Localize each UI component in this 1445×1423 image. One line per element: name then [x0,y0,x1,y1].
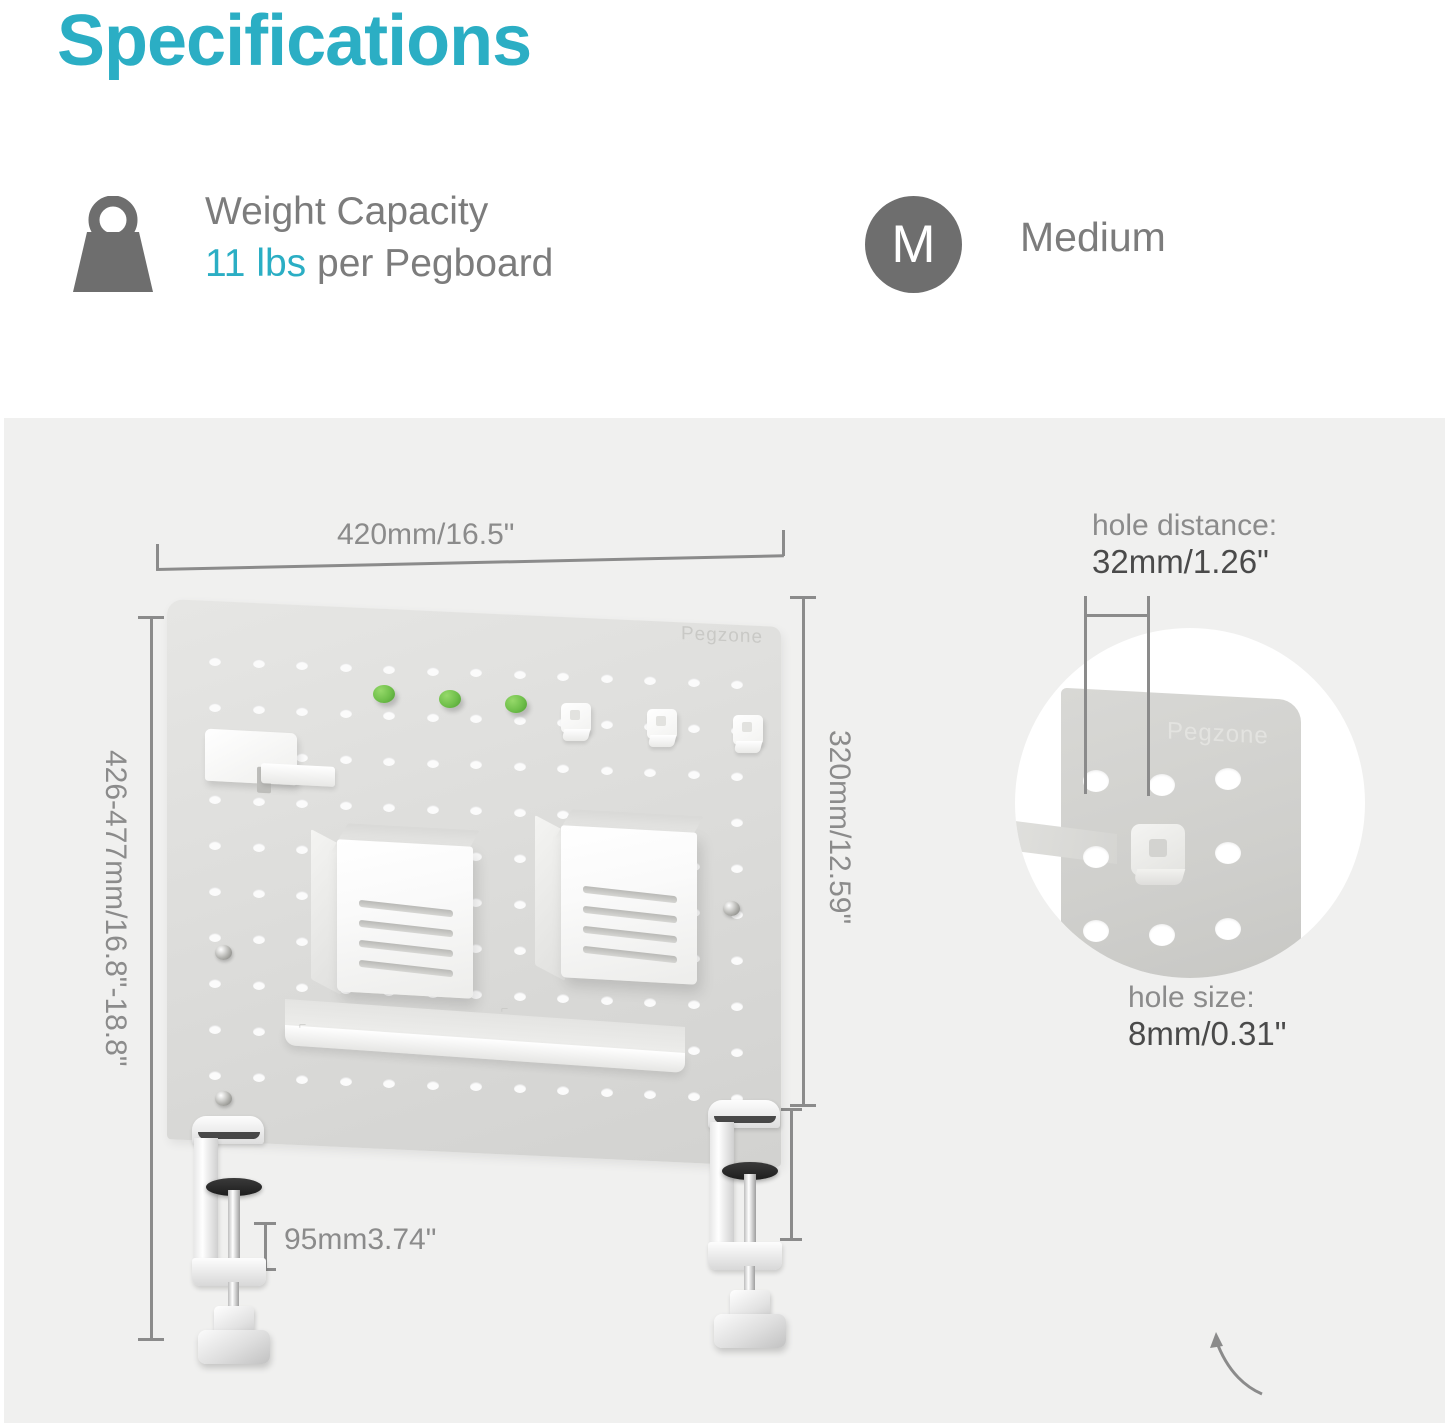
pegboard-hole [644,1090,656,1099]
phone-holder-accessory [205,731,333,803]
size-badge-label: Medium [1020,214,1166,261]
width-dim-cap-right [782,530,785,556]
magnified-hole [1149,924,1175,946]
pegboard-hole [296,845,308,854]
product-image-panel: 420mm/16.5" 426-477mm/16.8"-18.8" 320mm/… [4,418,1445,1423]
pegboard-hole [296,1075,308,1084]
pegboard-hole [731,1048,743,1057]
width-dim-line [156,554,784,571]
board-height-dim-label: 320mm/12.59" [822,730,856,924]
hole-size-callout: hole size: 8mm/0.31" [1128,980,1286,1054]
pegboard-hole [209,1071,221,1080]
pegboard-hole [209,703,221,712]
pegboard-hole [340,801,352,810]
pegboard-hole [644,768,656,777]
clamp-spine [710,1122,734,1254]
magnified-hole [1083,920,1109,942]
clamp-depth-dim-label: 95mm3.74" [284,1223,436,1257]
hole-distance-leader-left [1084,596,1087,794]
magnified-hole [1215,918,1241,940]
total-height-dim-line [150,616,153,1340]
basket-slot [583,946,677,964]
pegboard-hole [688,1046,700,1055]
pegboard-hole [601,1088,613,1097]
pegboard-hole [514,808,526,817]
pegboard-hole [253,1027,265,1036]
pegboard-hook [733,715,763,745]
pegboard-hole [514,670,526,679]
pegboard-hole [731,772,743,781]
pegboard-hole [427,667,439,676]
pegboard-hook [561,703,591,733]
pegboard-hole [296,661,308,670]
pegboard-hole [253,1073,265,1082]
pegboard-hole [383,665,395,674]
pegboard-hole [340,709,352,718]
magnified-brand-logo: Pegzone [1167,717,1269,750]
basket-slot [583,886,677,904]
width-dim-label: 420mm/16.5" [337,518,514,552]
pegboard-hole [340,755,352,764]
pegboard-hole [383,757,395,766]
hole-distance-callout: hole distance: 32mm/1.26" [1092,508,1277,582]
pegboard-hole [296,707,308,716]
pegboard-hole [253,935,265,944]
desk-clamp-left [180,1116,276,1366]
pegboard-hole [601,766,613,775]
pegboard-hole [427,805,439,814]
pegboard-hole [253,705,265,714]
weight-capacity-block: Weight Capacity 11 lbs per Pegboard [57,186,757,316]
pegboard-hole [644,998,656,1007]
magnified-detail-circle: Pegzone [1015,628,1365,978]
weight-capacity-value: 11 lbs per Pegboard [205,238,553,290]
pegboard-hole [253,889,265,898]
basket-slot [359,940,453,958]
hole-distance-value: 32mm/1.26" [1092,543,1277,582]
pegboard-hole [296,891,308,900]
total-height-dim-label: 426-477mm/16.8"-18.8" [98,750,132,1066]
pegboard-hole [340,1077,352,1086]
magnified-hole [1215,768,1241,790]
board-height-dim-line [802,596,805,1106]
pegboard-hole [383,711,395,720]
pegboard-hole [427,713,439,722]
mounting-screw [215,1091,232,1106]
green-peg [439,690,461,708]
clamp-base [198,1330,270,1364]
basket-slot [359,920,453,938]
page-title: Specifications [57,4,531,80]
pegboard-hole [209,841,221,850]
pegboard-hole [601,996,613,1005]
clamp-screw-rod [228,1190,240,1264]
weight-capacity-text: Weight Capacity 11 lbs per Pegboard [205,186,553,290]
pegboard-hole [296,983,308,992]
magnified-hole [1083,846,1109,868]
pegboard-hole [253,843,265,852]
pegboard-hole [296,937,308,946]
hook-outline-mark: ⌐ [299,1017,306,1033]
pegboard-hole [731,956,743,965]
clamp-base [714,1314,786,1348]
pegboard-hole [731,1002,743,1011]
hole-size-value: 8mm/0.31" [1128,1015,1286,1054]
weight-capacity-label: Weight Capacity [205,186,553,238]
size-badge-circle: M [865,196,962,293]
hole-size-label: hole size: [1128,980,1286,1015]
basket-slot [359,960,453,978]
pegboard-hole [688,678,700,687]
pegboard-hole [731,864,743,873]
pegboard-hole [601,674,613,683]
pegboard-hole [601,720,613,729]
hole-size-arrow-icon [1182,1298,1272,1398]
weight-capacity-suffix: per Pegboard [306,242,553,285]
pegboard-hole [514,762,526,771]
clamp-spine [194,1138,218,1270]
pegboard-hook [647,709,677,739]
basket-slot [583,906,677,924]
pegboard-hole [514,854,526,863]
bottom-tray-shelf [285,1013,685,1065]
pegboard-hole [209,657,221,666]
magnified-hole [1149,774,1175,796]
pegboard-hole [253,659,265,668]
header-section: Specifications Weight Capacity 11 lbs pe… [0,0,1445,418]
basket-front [337,839,473,999]
pegboard-hole [427,759,439,768]
width-dim-cap-left [156,544,159,570]
pegboard-unit: Pegzone [167,613,787,1153]
phone-holder-lip [261,763,335,787]
pegboard-hole [688,770,700,779]
pegboard-hole [644,676,656,685]
magnified-hole [1215,842,1241,864]
pegboard-hole [383,1079,395,1088]
pegboard-hole [688,724,700,733]
pegboard-hole [209,933,221,942]
clamp-screw-rod [744,1174,756,1248]
pegboard-hole [514,946,526,955]
hole-distance-label: hole distance: [1092,508,1277,543]
mounting-screw [723,901,740,916]
pegboard-hole [253,981,265,990]
desk-clamp-right [696,1100,792,1350]
pegboard-hole [514,900,526,909]
pegboard-hole [731,818,743,827]
basket-slot [583,926,677,944]
pegboard-hole [383,803,395,812]
weight-capacity-number: 11 lbs [205,242,306,285]
pegboard-hole [514,1084,526,1093]
pegboard-hole [340,663,352,672]
magnified-hook [1131,824,1185,876]
pegboard-hole [514,992,526,1001]
basket-slot [359,900,453,918]
basket-front [561,825,697,985]
pegboard-brand-logo: Pegzone [681,623,763,649]
green-peg [505,695,527,713]
hole-distance-leader-right [1147,596,1150,796]
green-peg [373,685,395,703]
pegboard-hole [514,716,526,725]
pegboard-hole [209,1025,221,1034]
weight-icon [57,196,169,296]
pegboard-hole [731,680,743,689]
pegboard-hole [427,1081,439,1090]
pegboard-hole [209,979,221,988]
hole-distance-bracket [1084,614,1150,617]
pegboard-hole [209,887,221,896]
hook-outline-mark: ⌐ [501,1001,508,1017]
mounting-screw [215,945,232,960]
pegboard-hole [688,1000,700,1009]
